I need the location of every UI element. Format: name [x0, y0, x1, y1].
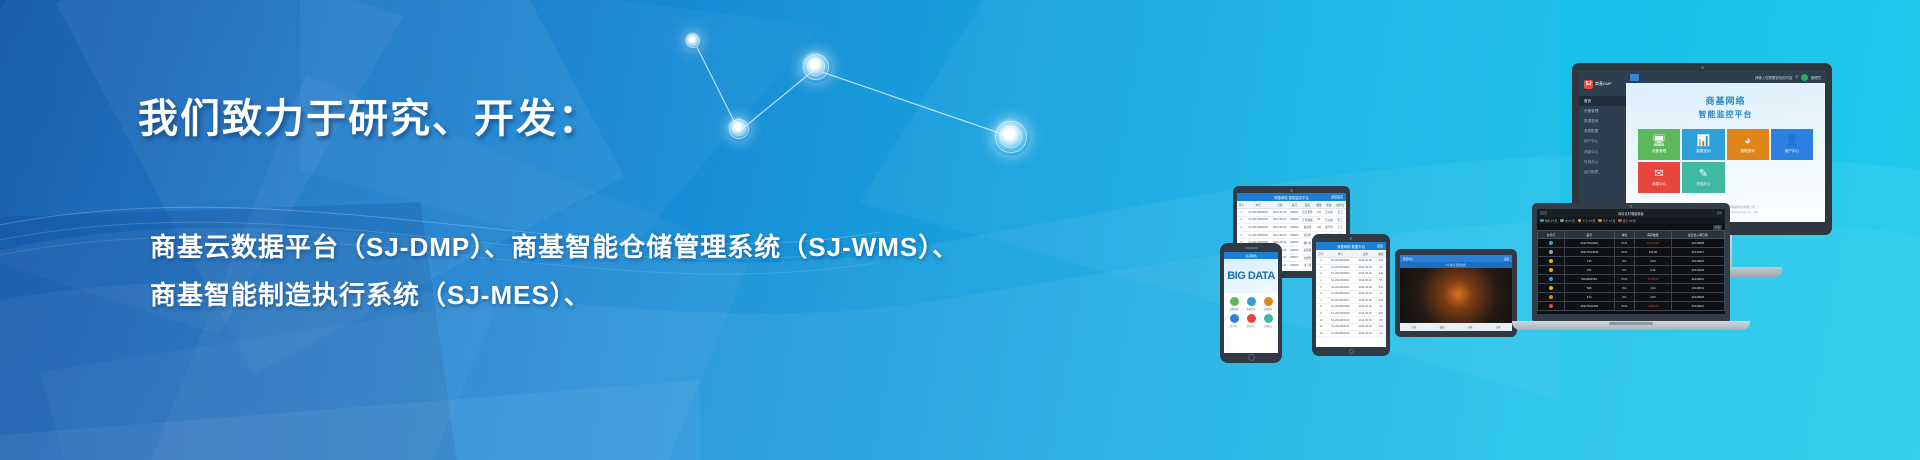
cell: 7: [1316, 297, 1326, 304]
cell: RB004: [1289, 231, 1301, 239]
signal-dot-icon: [1549, 295, 1553, 299]
tablet-title: 商基网络 智能监控平台: [1274, 195, 1309, 200]
cell: SJ-2014063009: [1326, 310, 1354, 317]
table-row: 2 SJ-2014063002 2014-06-30 86: [1316, 264, 1386, 271]
phone-titlebar: 商基网络: [1224, 252, 1278, 259]
cell: 2014-06-30: [1355, 297, 1376, 304]
phone-tile-query[interactable]: 数据查询: [1244, 297, 1258, 311]
cell: 1: [1237, 209, 1245, 217]
cell-date: 20140613: [1671, 284, 1724, 293]
cell: 进行中: [1323, 224, 1334, 232]
legend-label: 高于 3个月: [1623, 219, 1636, 223]
cell: 已完成: [1323, 216, 1334, 224]
signal-dot-icon: [1549, 268, 1553, 272]
tablet-portrait-title: 商基网络 数据平台: [1337, 244, 1365, 249]
cell: 240: [1315, 224, 1323, 232]
phone-tile-office[interactable]: 在线办公: [1261, 314, 1275, 328]
cell-date: 20140615: [1671, 257, 1724, 266]
video-feed: [1400, 268, 1512, 323]
col-item-name: 品名: [1300, 201, 1314, 209]
col-index: 序号: [1237, 201, 1245, 209]
cell: SJ-20140630004: [1245, 231, 1270, 239]
cell-unit: PCS: [1614, 302, 1635, 311]
bar-chart-icon: 📊: [1697, 136, 1711, 147]
mail-icon: ✉: [1655, 169, 1664, 180]
page-title: 我们致力于研究、开发：: [138, 94, 600, 144]
camera-icon: [1701, 66, 1704, 69]
hero-banner: 我们致力于研究、开发： 商基云数据平台（SJ-DMP）、商基智能仓储管理系统（S…: [0, 0, 1920, 460]
legend-label: 少于 2个月: [1583, 219, 1596, 223]
table-row: 845 KG 4.31 20140613: [1538, 284, 1725, 293]
home-button-icon[interactable]: [1248, 354, 1255, 361]
table-row: 3 SJ-2014063003 2014-06-30 240: [1316, 271, 1386, 278]
table-row: 4 SJ-2014063004 2014-06-30 55: [1316, 277, 1386, 284]
camera-icon: [1630, 205, 1633, 208]
cell: 64: [1376, 304, 1386, 311]
tablet-back-button[interactable]: 返回: [1377, 244, 1383, 248]
cell: 4: [1316, 277, 1326, 284]
tablet-titlebar: 商基网络 智能监控平台 返回首页: [1237, 193, 1346, 201]
table-row: 1 SJ-2014063001 2014-06-30 120: [1316, 258, 1386, 265]
cell: 轴承座: [1300, 224, 1314, 232]
cell: 2014-06-30: [1355, 323, 1376, 330]
cell: SJ-20140630001: [1245, 209, 1270, 217]
cell: 不锈钢板: [1300, 216, 1314, 224]
cell: RB001: [1289, 209, 1301, 217]
tile-label: 管理资料: [1740, 149, 1754, 154]
cell: 120: [1376, 258, 1386, 265]
sidebar-item-office[interactable]: 在线办公: [1579, 157, 1626, 167]
menu-icon[interactable]: [1630, 74, 1639, 81]
tablet-home-button[interactable]: 返回首页: [1331, 195, 1343, 199]
user-icon: 👤: [1785, 136, 1799, 147]
cell: 2014-06-30: [1355, 284, 1376, 291]
cell-code: 613: [1564, 293, 1614, 302]
sidebar-item-query[interactable]: 数据查询: [1579, 116, 1626, 126]
table-row: 1341TKH4601 PCS 29,025.00 20140605: [1538, 239, 1725, 248]
col-item-code: 品号: [1564, 231, 1614, 239]
video-fullscreen-button[interactable]: 全屏: [1496, 325, 1501, 329]
signal-dot-icon: [1549, 250, 1553, 254]
cell: 2014-06-30: [1355, 310, 1376, 317]
cell-signal: [1538, 266, 1565, 275]
cell: 2014-06-30: [1355, 271, 1376, 278]
camera-icon: [1350, 237, 1353, 240]
video-controls: 回放 截图 录像 全屏: [1400, 323, 1512, 331]
cell: 10: [1316, 317, 1326, 324]
video-topbar: 监控中心 设置: [1400, 255, 1512, 262]
col-stock-qty: 库存数量: [1635, 231, 1671, 239]
table-row: 12 SJ-2014063012 2014-06-30 97: [1316, 330, 1386, 337]
signal-dot-icon: [1549, 241, 1553, 245]
cell: SJ-2014063002: [1326, 264, 1354, 271]
phone-hero-text: BIG DATA: [1224, 259, 1278, 293]
video-settings-button[interactable]: 设置: [1504, 257, 1509, 261]
account-label[interactable]: 管理员: [1811, 75, 1821, 80]
table-row: 2 SJ-20140630002 2014-06-30 RB002 不锈钢板 8…: [1237, 216, 1346, 224]
pie-chart-icon: ◕: [1744, 136, 1751, 147]
phone-mockup: 商基网络 BIG DATA 设备管理 数据查询 管理资料: [1220, 243, 1282, 363]
sidebar-item-home[interactable]: 首页: [1579, 96, 1626, 106]
cell: 2: [1316, 264, 1326, 271]
cell: 张工: [1335, 209, 1346, 217]
col-signal: 信号灯: [1538, 231, 1565, 239]
home-button-icon[interactable]: [1349, 349, 1354, 354]
legend-item-2: 中 2个月: [1560, 219, 1575, 223]
cell: 2: [1237, 216, 1245, 224]
legend-dot-icon: [1618, 219, 1622, 223]
laptop-screen: 库存实时明细看板 刷新 中等 1个月 中 2个月: [1537, 209, 1725, 314]
phone-tile-grid: 设备管理 数据查询 管理资料 用户中心: [1224, 293, 1278, 332]
cell: 2014-06-30: [1355, 317, 1376, 324]
legend-label: 中等 1个月: [1545, 219, 1558, 223]
monitor-icon: [1230, 297, 1239, 306]
cell-qty: 4,755.00: [1635, 275, 1671, 284]
tile-label: 在线办公: [1696, 182, 1710, 187]
col-unit: 单位: [1614, 231, 1635, 239]
cell: 310: [1376, 284, 1386, 291]
cell: 190: [1376, 297, 1386, 304]
cell-code: 8413661561: [1564, 275, 1614, 284]
col-qty: 数量: [1315, 201, 1323, 209]
tablet-video-mockup: 监控中心 设置 1号车间 现场监控 回放 截图 录像 全屏: [1395, 249, 1517, 337]
table-row: 6 SJ-2014063006 2014-06-30 72: [1316, 290, 1386, 297]
cell-code: 1541TKH4646: [1564, 248, 1614, 257]
table-row: 9 SJ-2014063009 2014-06-30 420: [1316, 310, 1386, 317]
cell-signal: [1538, 275, 1565, 284]
cell: 240: [1376, 271, 1386, 278]
cell-code: 135: [1564, 257, 1614, 266]
table-row: 5 SJ-2014063005 2014-06-30 310: [1316, 284, 1386, 291]
cell-code: 1341TKH4601: [1564, 239, 1614, 248]
phone-tile-message[interactable]: 消息中心: [1244, 314, 1258, 328]
video-record-button[interactable]: 录像: [1468, 325, 1473, 329]
export-button[interactable]: 导出: [1713, 225, 1722, 230]
table-header-row: 序号 单号 日期 品号 品名 数量 状态 操作员: [1237, 201, 1346, 209]
device-mockup-cluster: SJ 商基DMP 首页 设备管理 数据查询 参数配置 用户中心 消息中心 在线办…: [1220, 0, 1920, 460]
tablet-portrait-mockup: 商基网络 数据平台 返回 序号 单号 日期 数量 1 SJ-2014063001: [1312, 234, 1390, 356]
bar-chart-icon: [1247, 297, 1256, 306]
cell: SJ-2014063007: [1326, 297, 1354, 304]
laptop-lid: 库存实时明细看板 刷新 中等 1个月 中 2个月: [1532, 203, 1730, 321]
cell: 2014-06-30: [1355, 277, 1376, 284]
cell: RB006: [1289, 246, 1301, 254]
signal-dot-icon: [1549, 277, 1553, 281]
cell: RB002: [1289, 216, 1301, 224]
col-date: 日期: [1355, 250, 1376, 258]
cell: SJ-2014063011: [1326, 323, 1354, 330]
cell: 11: [1316, 323, 1326, 330]
cell: SJ-2014063004: [1326, 277, 1354, 284]
table-row: 1341TKH2230 PCS 1,208.00 20140621: [1538, 302, 1725, 311]
cell-unit: PCS: [1614, 248, 1635, 257]
imac-screen: SJ 商基DMP 首页 设备管理 数据查询 参数配置 用户中心 消息中心 在线办…: [1579, 71, 1825, 222]
tile-message-center[interactable]: ✉ 消息中心: [1638, 162, 1680, 193]
cell: RB009: [1289, 269, 1301, 271]
cell-unit: KG: [1614, 284, 1635, 293]
cell: 3: [1316, 271, 1326, 278]
legend-dot-icon: [1540, 219, 1544, 223]
cell-qty: 4.31: [1635, 284, 1671, 293]
product-line-1: 商基云数据平台（SJ-DMP）、商基智能仓储管理系统（SJ-WMS）、: [150, 228, 959, 267]
cell: 86: [1376, 264, 1386, 271]
cell-date: 20140605: [1671, 239, 1724, 248]
mail-icon: [1247, 314, 1256, 323]
app-main: 请输入您想要查找的内容 ⚲ 管理员 商基网络 智能监控平台: [1626, 71, 1825, 222]
video-playback-button[interactable]: 回放: [1412, 325, 1417, 329]
cell: 55: [1376, 277, 1386, 284]
cell-qty: 6.11: [1635, 266, 1671, 275]
tile-data-query[interactable]: 📊 数据查询: [1682, 129, 1724, 160]
laptop-inventory-rows: 1341TKH4601 PCS 29,025.00 20140605 1541T…: [1538, 239, 1725, 311]
tablet-video-screen: 监控中心 设置 1号车间 现场监控 回放 截图 录像 全屏: [1400, 255, 1512, 331]
product-line-2: 商基智能制造执行系统（SJ-MES）、: [150, 276, 591, 315]
table-row: 11 SJ-2014063011 2014-06-30 142: [1316, 323, 1386, 330]
video-title: 监控中心: [1403, 257, 1413, 261]
edit-icon: ✎: [1699, 169, 1708, 180]
cell-signal: [1538, 284, 1565, 293]
cell-unit: PCS: [1614, 275, 1635, 284]
app-hero-title: 商基网络 智能监控平台: [1626, 83, 1825, 120]
signal-dot-icon: [1549, 304, 1553, 308]
cell-date: 20140417: [1671, 248, 1724, 257]
cell: 王工: [1335, 224, 1346, 232]
laptop-base: [1512, 321, 1750, 330]
tile-label: 消息中心: [1247, 324, 1256, 328]
col-index: 序号: [1316, 250, 1326, 258]
col-operator: 操作员: [1335, 201, 1346, 209]
table-row: 7 SJ-2014063007 2014-06-30 190: [1316, 297, 1386, 304]
cell-unit: KG: [1614, 257, 1635, 266]
cell: 2014-06-30: [1355, 264, 1376, 271]
col-last-movement-date: 最近出入库日期: [1671, 231, 1724, 239]
signal-dot-icon: [1549, 259, 1553, 263]
monitor-icon: 🖥: [1652, 136, 1666, 147]
table-header-row: 序号 单号 日期 数量: [1316, 250, 1386, 258]
tile-online-office[interactable]: ✎ 在线办公: [1682, 162, 1724, 193]
tablet-portrait-rows: 1 SJ-2014063001 2014-06-30 120 2 SJ-2014…: [1316, 258, 1386, 337]
table-header-row: 信号灯 品号 单位 库存数量 最近出入库日期: [1538, 231, 1725, 239]
app-logo: SJ 商基DMP: [1579, 76, 1626, 92]
tile-label: 设备管理: [1652, 149, 1666, 154]
tablet-portrait-screen: 商基网络 数据平台 返回 序号 单号 日期 数量 1 SJ-2014063001: [1316, 242, 1386, 347]
col-item-code: 品号: [1289, 201, 1301, 209]
legend-item-3: 少于 2个月: [1578, 219, 1595, 223]
table-row: 1 SJ-20140630001 2014-06-30 RB001 铝合金件 1…: [1237, 209, 1346, 217]
table-row: 3 SJ-20140630003 2014-06-30 RB003 轴承座 24…: [1237, 224, 1346, 232]
phone-screen: 商基网络 BIG DATA 设备管理 数据查询 管理资料: [1224, 252, 1278, 353]
cell: 142: [1376, 323, 1386, 330]
tile-label: 在线办公: [1264, 324, 1273, 328]
cell-signal: [1538, 239, 1565, 248]
tile-label: 管理资料: [1264, 307, 1273, 311]
laptop-inventory-table: 信号灯 品号 单位 库存数量 最近出入库日期 1341TKH4601 PCS: [1537, 230, 1725, 311]
col-order-no: 单号: [1245, 201, 1270, 209]
app-tile-grid: 🖥 设备管理 📊 数据查询 ◕ 管理资料: [1626, 120, 1825, 193]
cell-signal: [1538, 248, 1565, 257]
tile-label: 数据查询: [1247, 307, 1256, 311]
legend-label: 中 2个月: [1565, 219, 1575, 223]
cell-qty: 1,208.00: [1635, 302, 1671, 311]
cell: 420: [1376, 310, 1386, 317]
cell: 8: [1316, 304, 1326, 311]
sidebar-item-config[interactable]: 参数配置: [1579, 127, 1626, 137]
table-row: 613 KG 2.05 20140618: [1538, 293, 1725, 302]
logo-text: 商基DMP: [1595, 81, 1612, 87]
cell-qty: 29,025.00: [1635, 239, 1671, 248]
cell-qty: 2.05: [1635, 293, 1671, 302]
table-row: 8413661561 PCS 4,755.00 20140613: [1538, 275, 1725, 284]
cell: 李工: [1335, 216, 1346, 224]
cell-date: 20140613: [1671, 275, 1724, 284]
table-row: 8 SJ-2014063008 2014-06-30 64: [1316, 304, 1386, 311]
phone-tile-manage[interactable]: 管理资料: [1261, 297, 1275, 311]
tile-label: 用户中心: [1230, 324, 1239, 328]
cell: SJ-2014063001: [1326, 258, 1354, 265]
laptop-window-title: 库存实时明细看板: [1618, 211, 1644, 216]
cell: 120: [1315, 209, 1323, 217]
cell: 5: [1316, 284, 1326, 291]
table-row: 10 SJ-2014063010 2014-06-30 38: [1316, 317, 1386, 324]
sidebar-item-user[interactable]: 用户中心: [1579, 137, 1626, 147]
legend-item-1: 中等 1个月: [1540, 219, 1557, 223]
legend-dot-icon: [1560, 219, 1564, 223]
app-sidebar: SJ 商基DMP 首页 设备管理 数据查询 参数配置 用户中心 消息中心 在线办…: [1579, 71, 1626, 222]
cell: SJ-2014063003: [1326, 271, 1354, 278]
video-snapshot-button[interactable]: 截图: [1440, 325, 1445, 329]
cell: 72: [1376, 290, 1386, 297]
cell: 2014-06-30: [1271, 216, 1289, 224]
phone-tile-user[interactable]: 用户中心: [1227, 314, 1241, 328]
cell-qty: 9.00: [1635, 257, 1671, 266]
cell-code: 611: [1564, 266, 1614, 275]
tile-label: 数据查询: [1696, 149, 1710, 154]
hero-title-line-2: 智能监控平台: [1626, 109, 1825, 120]
cell: SJ-20140630003: [1245, 224, 1270, 232]
cell: 9: [1316, 310, 1326, 317]
cell: 2014-06-30: [1355, 330, 1376, 337]
cell: 3: [1237, 224, 1245, 232]
legend-dot-icon: [1598, 219, 1602, 223]
cell: SJ-2014063012: [1326, 330, 1354, 337]
laptop-window-titlebar: 库存实时明细看板 刷新: [1537, 209, 1725, 217]
cell: 2014-06-30: [1271, 224, 1289, 232]
cell: RB007: [1289, 254, 1301, 262]
app-topbar: 请输入您想要查找的内容 ⚲ 管理员: [1626, 71, 1825, 83]
avatar[interactable]: [1801, 74, 1808, 81]
legend-label: 少于 1个月: [1603, 219, 1616, 223]
tile-label: 消息中心: [1652, 182, 1666, 187]
sidebar-item-devices[interactable]: 设备管理: [1579, 106, 1626, 116]
cell-qty: 102.00: [1635, 248, 1671, 257]
edit-icon: [1264, 314, 1273, 323]
tile-device-management[interactable]: 🖥 设备管理: [1638, 129, 1680, 160]
table-row: 135 KG 9.00 20140615: [1538, 257, 1725, 266]
cell-code: 1341TKH2230: [1564, 302, 1614, 311]
cell: 2014-06-30: [1355, 290, 1376, 297]
logo-mark-icon: SJ: [1584, 80, 1593, 89]
tile-manage-data[interactable]: ◕ 管理资料: [1727, 129, 1769, 160]
table-row: 1541TKH4646 PCS 102.00 20140417: [1538, 248, 1725, 257]
cell: 4: [1237, 231, 1245, 239]
tablet-portrait-titlebar: 商基网络 数据平台 返回: [1316, 242, 1386, 250]
cell: 2014-06-30: [1271, 231, 1289, 239]
cell-signal: [1538, 302, 1565, 311]
search-input[interactable]: 请输入您想要查找的内容: [1755, 75, 1792, 80]
cell: 38: [1376, 317, 1386, 324]
cell: SJ-2014063008: [1326, 304, 1354, 311]
legend-item-4: 少于 1个月: [1598, 219, 1615, 223]
sidebar-item-messages[interactable]: 消息中心: [1579, 147, 1626, 157]
col-qty: 数量: [1376, 250, 1386, 258]
tile-label: 设备管理: [1230, 307, 1239, 311]
cell-unit: KG: [1614, 266, 1635, 275]
col-status: 状态: [1323, 201, 1334, 209]
cell: 2014-06-30: [1355, 258, 1376, 265]
search-icon[interactable]: ⚲: [1795, 75, 1797, 79]
pie-chart-icon: [1264, 297, 1273, 306]
cell-unit: KG: [1614, 293, 1635, 302]
col-order-no: 单号: [1326, 250, 1354, 258]
legend-dot-icon: [1578, 219, 1582, 223]
user-icon: [1230, 314, 1239, 323]
cell-signal: [1538, 293, 1565, 302]
signal-dot-icon: [1549, 286, 1553, 290]
cell: 12: [1316, 330, 1326, 337]
sidebar-menu: 首页 设备管理 数据查询 参数配置 用户中心 消息中心 在线办公 运行报表: [1579, 96, 1626, 178]
refresh-button[interactable]: 刷新: [1717, 211, 1722, 215]
cell: SJ-2014063010: [1326, 317, 1354, 324]
cell-unit: PCS: [1614, 239, 1635, 248]
laptop-mockup: 库存实时明细看板 刷新 中等 1个月 中 2个月: [1532, 203, 1730, 330]
cell: RB005: [1289, 239, 1301, 247]
camera-icon: [1290, 189, 1293, 192]
cell: 86: [1315, 216, 1323, 224]
sidebar-item-reports[interactable]: 运行报表: [1579, 167, 1626, 177]
laptop-legend: 中等 1个月 中 2个月 少于 2个月 少于 1个月: [1537, 217, 1725, 224]
topbar-right: 请输入您想要查找的内容 ⚲ 管理员: [1755, 74, 1821, 81]
window-menu-icon[interactable]: [1540, 211, 1547, 215]
cell-date: 20140621: [1671, 302, 1724, 311]
tile-label: 用户中心: [1785, 149, 1799, 154]
cell: 6: [1316, 290, 1326, 297]
banner-copy: 我们致力于研究、开发： 商基云数据平台（SJ-DMP）、商基智能仓储管理系统（S…: [0, 0, 1060, 460]
legend-item-5: 高于 3个月: [1618, 219, 1635, 223]
cell: RB003: [1289, 224, 1301, 232]
cell: 2014-06-30: [1355, 304, 1376, 311]
cell-signal: [1538, 257, 1565, 266]
cell: SJ-2014063005: [1326, 284, 1354, 291]
cell-date: 20140618: [1671, 293, 1724, 302]
cell: 2014-06-30: [1271, 209, 1289, 217]
speaker-icon: [1245, 247, 1258, 249]
cell: SJ-20140630002: [1245, 216, 1270, 224]
tablet-portrait-table: 序号 单号 日期 数量 1 SJ-2014063001 2014-06-30 1…: [1316, 250, 1386, 337]
cell: 1: [1316, 258, 1326, 265]
cell: RB008: [1289, 262, 1301, 270]
cell-code: 845: [1564, 284, 1614, 293]
hero-title-line-1: 商基网络: [1626, 94, 1825, 107]
cell: 已完成: [1323, 209, 1334, 217]
phone-tile-device[interactable]: 设备管理: [1227, 297, 1241, 311]
table-row: 611 KG 6.11 20140422: [1538, 266, 1725, 275]
cell: SJ-2014063006: [1326, 290, 1354, 297]
cell-date: 20140422: [1671, 266, 1724, 275]
tile-user-center[interactable]: 👤 用户中心: [1771, 129, 1813, 160]
cell: 铝合金件: [1300, 209, 1314, 217]
col-date: 日期: [1271, 201, 1289, 209]
cell: 97: [1376, 330, 1386, 337]
